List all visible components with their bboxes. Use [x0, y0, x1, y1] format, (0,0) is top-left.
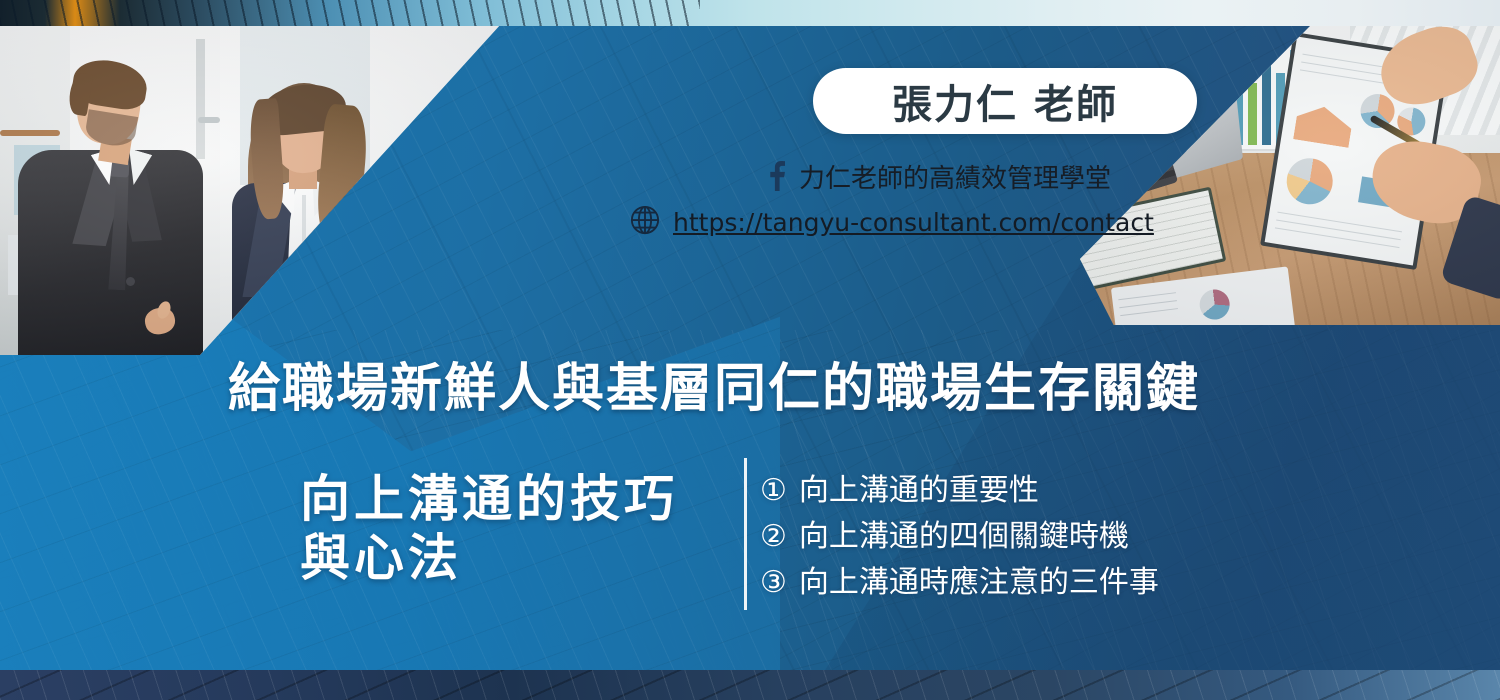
top-edge-strip [0, 0, 1500, 26]
course-title-line-1: 向上溝通的技巧 [300, 470, 678, 528]
facebook-page-name: 力仁老師的高績效管理學堂 [799, 158, 1111, 195]
webinar-banner: 張力仁 老師 力仁老師的高績效管理學堂 https://tangyu-consu… [0, 0, 1500, 700]
agenda-label: 向上溝通的重要性 [799, 476, 1039, 506]
course-title-line-2: 與心法 [300, 529, 730, 588]
website-link-line[interactable]: https://tangyu-consultant.com/contact [630, 202, 1170, 242]
agenda-number: ③ [760, 568, 787, 598]
agenda-list: ① 向上溝通的重要性 ② 向上溝通的四個關鍵時機 ③ 向上溝通時應注意的三件事 [760, 468, 1280, 606]
agenda-label: 向上溝通的四個關鍵時機 [799, 522, 1129, 552]
agenda-label: 向上溝通時應注意的三件事 [799, 568, 1159, 598]
list-item: ② 向上溝通的四個關鍵時機 [760, 514, 1280, 560]
course-title: 向上溝通的技巧 與心法 [300, 470, 730, 588]
speaker-name-pill: 張力仁 老師 [813, 68, 1197, 134]
page-headline: 給職場新鮮人與基層同仁的職場生存關鍵 [228, 346, 1328, 408]
list-item: ① 向上溝通的重要性 [760, 468, 1280, 514]
vertical-divider [744, 458, 747, 610]
facebook-page-line[interactable]: 力仁老師的高績效管理學堂 [765, 158, 1205, 194]
speaker-name: 張力仁 老師 [892, 72, 1118, 130]
globe-icon [630, 205, 660, 240]
list-item: ③ 向上溝通時應注意的三件事 [760, 560, 1280, 606]
facebook-icon [765, 161, 787, 191]
agenda-number: ② [760, 522, 787, 552]
bottom-edge-strip [0, 670, 1500, 700]
agenda-number: ① [760, 476, 787, 506]
website-url[interactable]: https://tangyu-consultant.com/contact [673, 208, 1154, 237]
